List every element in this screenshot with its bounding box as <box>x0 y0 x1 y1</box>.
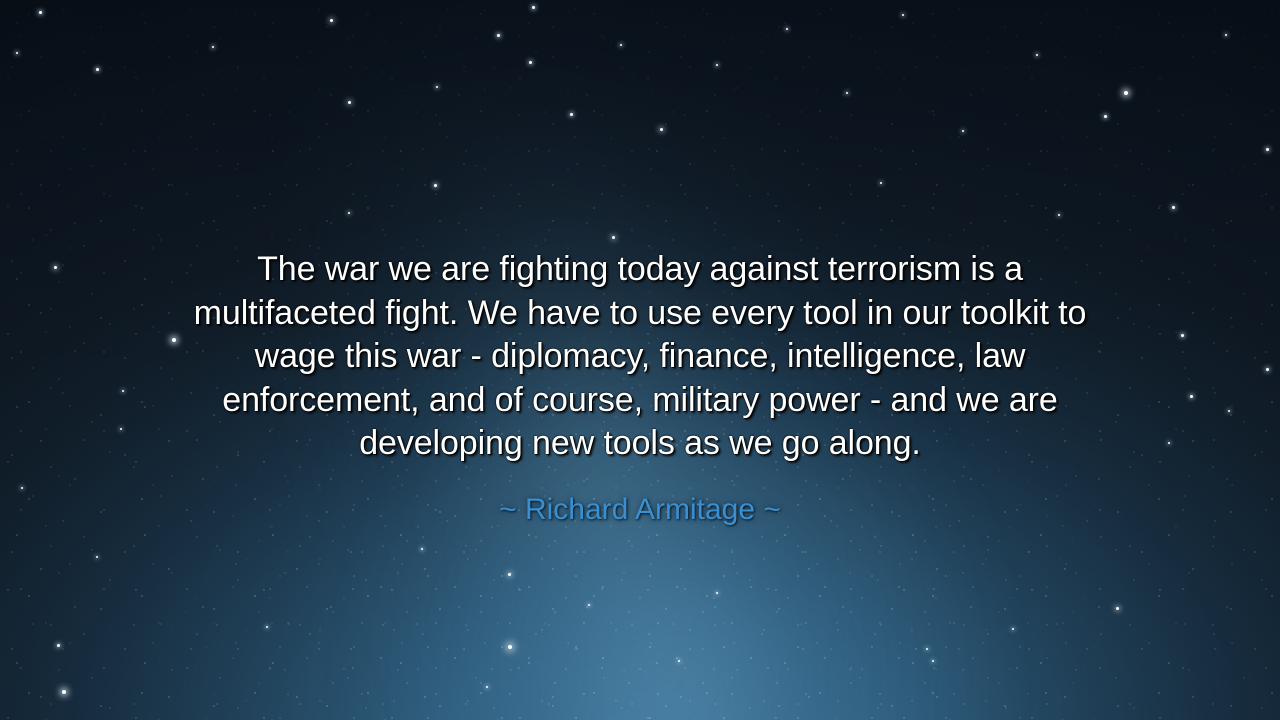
quote-attribution: ~ Richard Armitage ~ <box>130 466 1150 529</box>
quote-block: The war we are fighting today against te… <box>130 248 1150 529</box>
quote-image-canvas: The war we are fighting today against te… <box>0 0 1280 720</box>
quote-text: The war we are fighting today against te… <box>130 248 1150 466</box>
